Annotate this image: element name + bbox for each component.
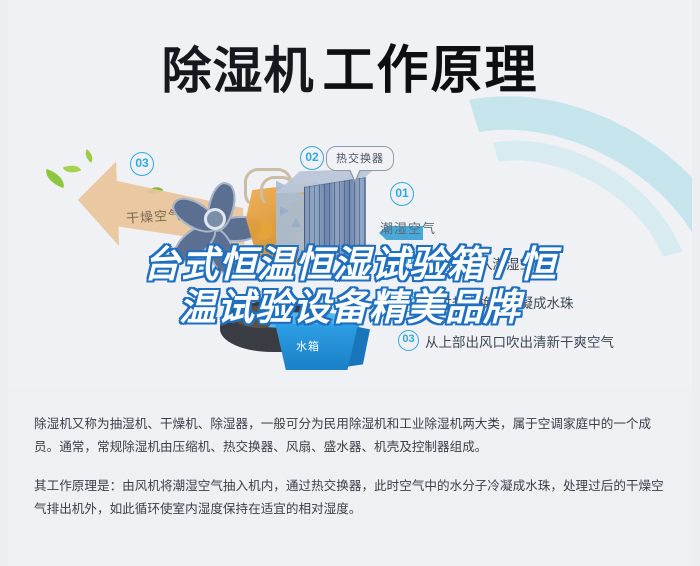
legend-text-03: 从上部出风口吹出清新干爽空气 (425, 331, 614, 351)
leaf-icon (82, 149, 96, 163)
dehumidifier-diagram: 干燥空气 03 01 潮湿空气 (8, 0, 692, 388)
legend-item: 03 从上部出风口吹出清新干爽空气 (398, 330, 692, 351)
description-paragraph-2: 其工作原理是：由风机将潮湿空气抽入机内，通过热交换器，此时空气中的水分子冷凝成水… (34, 474, 666, 520)
diagram-step-marker-01: 01 (390, 182, 414, 206)
heat-exchanger-callout: 热交换器 (326, 146, 394, 171)
description-paragraph-1: 除湿机又称为抽湿机、干燥机、除湿器，一般可分为民用除湿机和工业除湿机两大类，属于… (34, 412, 666, 458)
diagram-step-marker-03: 03 (130, 152, 154, 176)
diagram-step-marker-02: 02 (300, 146, 324, 170)
content-panel: 除湿机工作原理 干燥空气 03 01 潮湿空气 (8, 0, 692, 566)
legend-bullet-03: 03 (398, 330, 419, 351)
watermark-line-2: 温试验设备精美品牌 (8, 286, 692, 329)
page-root: 除湿机工作原理 干燥空气 03 01 潮湿空气 (0, 0, 700, 566)
leaf-icon (63, 161, 82, 177)
water-tank-label: 水箱 (296, 338, 320, 354)
hero-illustration: 除湿机工作原理 干燥空气 03 01 潮湿空气 (8, 0, 692, 388)
watermark-overlay: 台式恒温恒湿试验箱 / 恒 温试验设备精美品牌 (8, 243, 692, 329)
leaf-icon (43, 169, 68, 188)
description-section: 除湿机又称为抽湿机、干燥机、除湿器，一般可分为民用除湿机和工业除湿机两大类，属于… (8, 392, 692, 536)
watermark-line-1: 台式恒温恒湿试验箱 / 恒 (8, 243, 692, 286)
humid-air-label: 潮湿空气 (380, 218, 436, 237)
